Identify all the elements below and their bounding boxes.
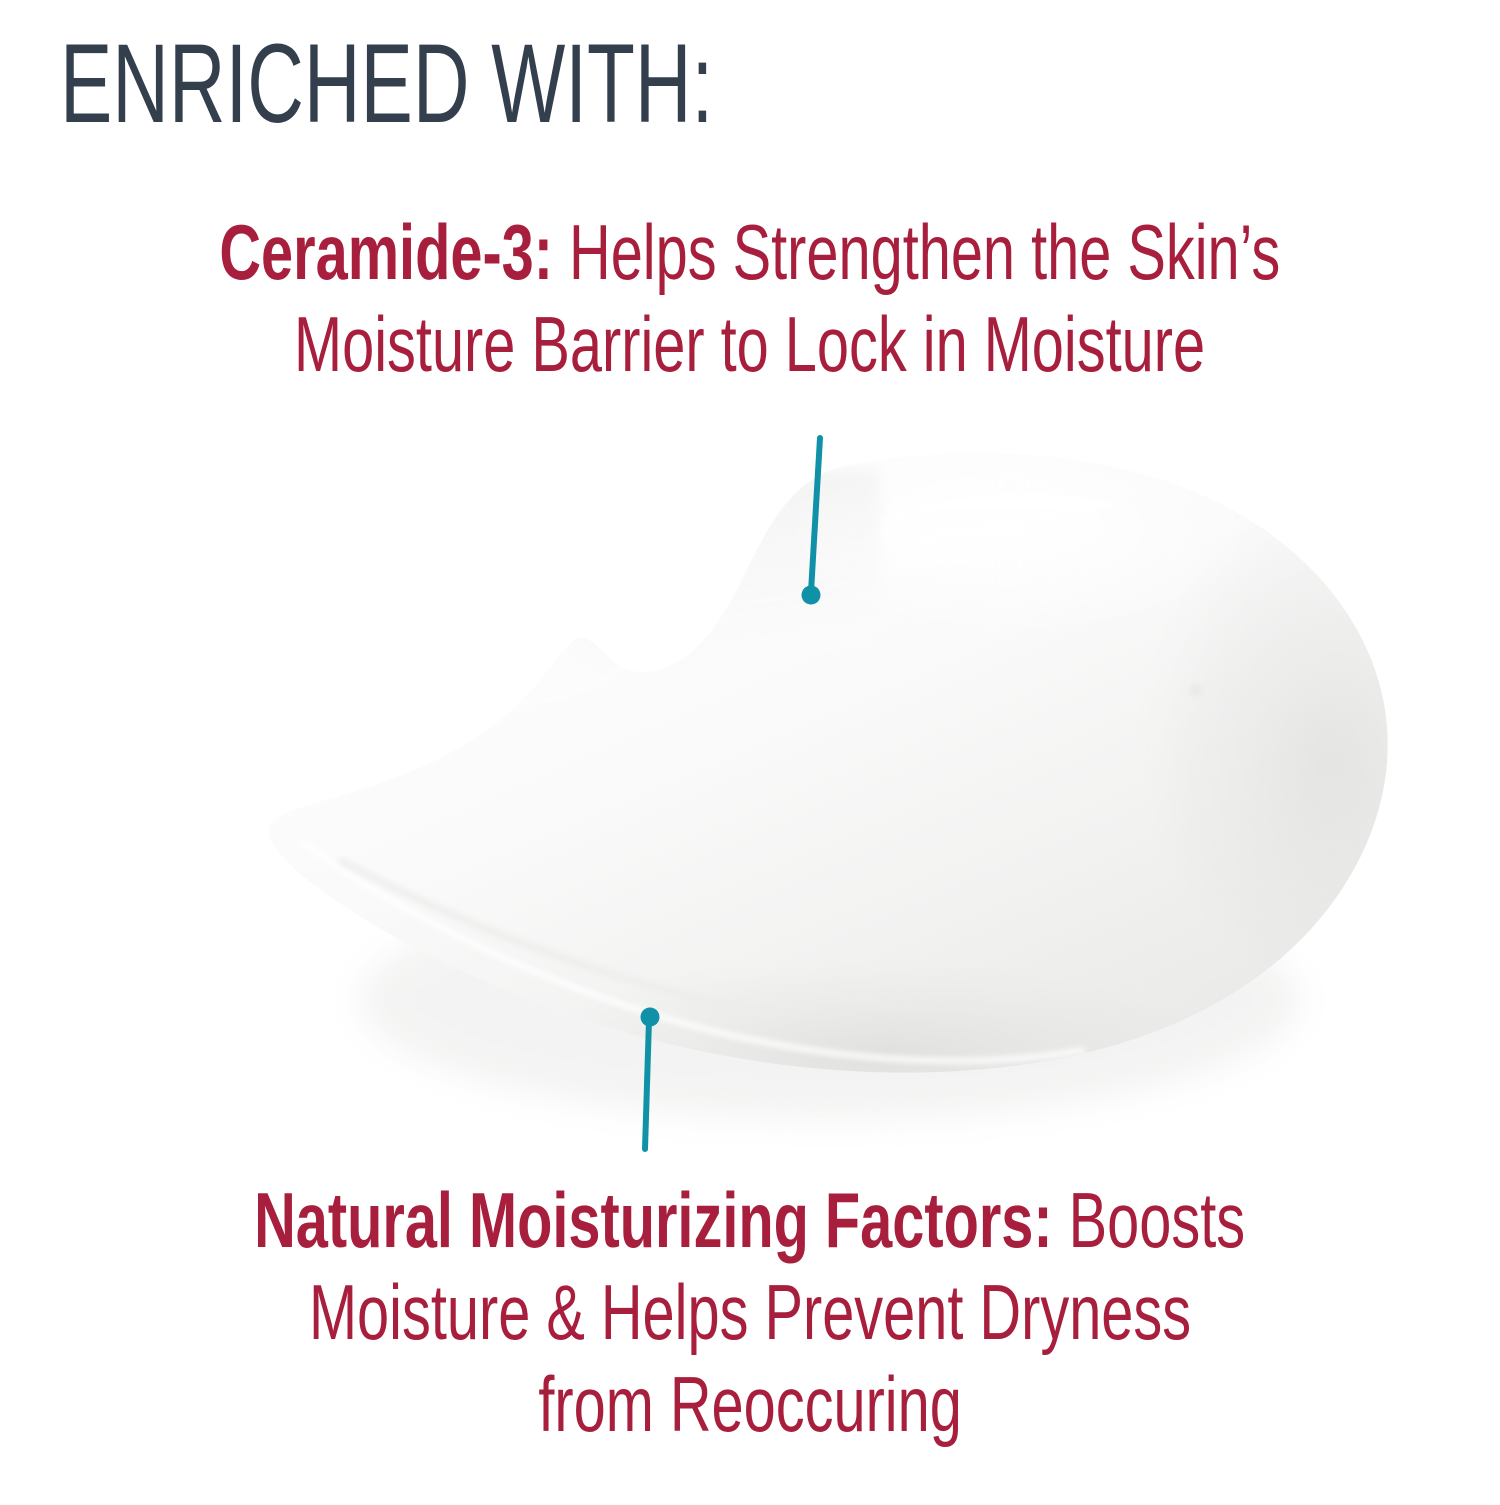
product-benefits-panel: ENRICHED WITH: Ceramide-3: Helps Strengt… — [0, 0, 1500, 1500]
callout-bottom — [641, 1008, 660, 1150]
callout-top — [802, 438, 821, 605]
nmf-callout-dot — [641, 1008, 660, 1027]
benefit-line: Natural Moisturizing Factors: Boosts — [0, 1174, 1500, 1266]
benefit-block-natural-moisturizing-factors: Natural Moisturizing Factors: Boosts Moi… — [0, 1174, 1500, 1450]
benefit-line: Ceramide-3: Helps Strengthen the Skin’s — [0, 206, 1500, 298]
page-title: ENRICHED WITH: — [60, 28, 713, 140]
benefit-line: from Reoccuring — [0, 1358, 1500, 1450]
benefit-block-ceramide-3: Ceramide-3: Helps Strengthen the Skin’s … — [0, 206, 1500, 390]
ceramide-3-callout-dot — [802, 586, 821, 605]
benefit-line-text: from Reoccuring — [538, 1360, 961, 1448]
benefit-line-text: Helps Strengthen the Skin’s — [569, 208, 1280, 296]
benefit-bold-label: Natural Moisturizing Factors: — [254, 1176, 1053, 1264]
ceramide-3-callout-line — [811, 438, 820, 592]
benefit-line: Moisture Barrier to Lock in Moisture — [0, 298, 1500, 390]
benefit-line: Moisture & Helps Prevent Dryness — [0, 1266, 1500, 1358]
benefit-line-text: Boosts — [1069, 1176, 1245, 1264]
benefit-bold-label: Ceramide-3: — [220, 208, 554, 296]
nmf-callout-line — [645, 1020, 649, 1149]
benefit-line-text: Moisture Barrier to Lock in Moisture — [294, 300, 1205, 388]
benefit-line-text: Moisture & Helps Prevent Dryness — [309, 1268, 1191, 1356]
